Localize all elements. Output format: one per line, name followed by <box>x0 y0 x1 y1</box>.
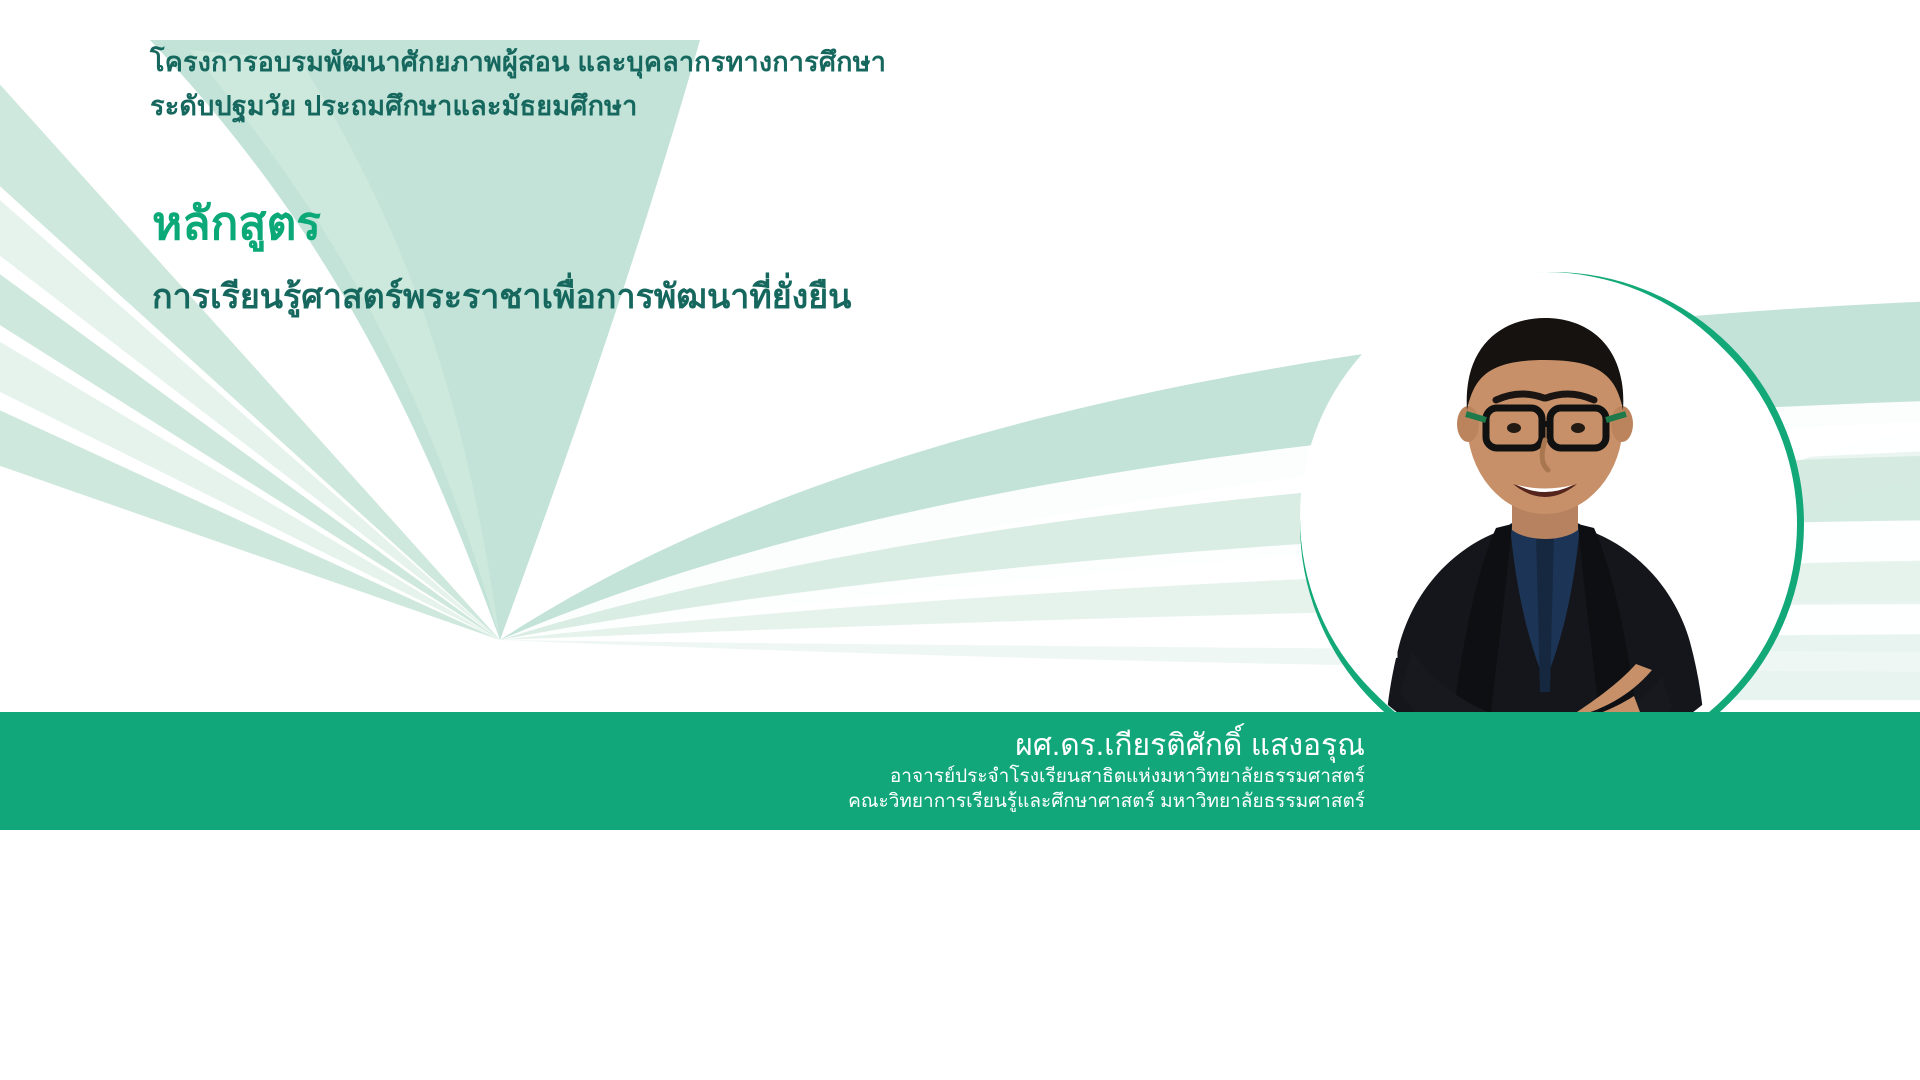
speaker-banner-text: ผศ.ดร.เกียรติศักดิ์ แสงอรุณ อาจารย์ประจำ… <box>0 712 1365 830</box>
program-heading: โครงการอบรมพัฒนาศักยภาพผู้สอน และบุคลากร… <box>150 40 1250 128</box>
speaker-role-line-1: อาจารย์ประจำโรงเรียนสาธิตแห่งมหาวิทยาลัย… <box>890 764 1365 789</box>
course-label: หลักสูตร <box>152 196 321 250</box>
program-heading-line-1: โครงการอบรมพัฒนาศักยภาพผู้สอน และบุคลากร… <box>150 40 1250 84</box>
footer: SAKDIBHORNSSUP FOUNDATION มูลนิธิศักดิ์พ… <box>0 830 1920 1080</box>
poster-canvas: โครงการอบรมพัฒนาศักยภาพผู้สอน และบุคลากร… <box>0 0 1920 1080</box>
course-title: การเรียนรู้ศาสตร์พระราชาเพื่อการพัฒนาที่… <box>152 275 851 319</box>
speaker-role-line-2: คณะวิทยาการเรียนรู้และศึกษาศาสตร์ มหาวิท… <box>848 789 1365 814</box>
speaker-name: ผศ.ดร.เกียรติศักดิ์ แสงอรุณ <box>1015 728 1365 764</box>
speaker-banner: ผศ.ดร.เกียรติศักดิ์ แสงอรุณ อาจารย์ประจำ… <box>0 712 1920 830</box>
speaker-portrait-illustration <box>1300 272 1790 762</box>
speaker-photo-clip <box>1300 272 1790 762</box>
speaker-photo-circle <box>1300 272 1804 776</box>
program-heading-line-2: ระดับปฐมวัย ประถมศึกษาและมัธยมศึกษา <box>150 84 1250 128</box>
